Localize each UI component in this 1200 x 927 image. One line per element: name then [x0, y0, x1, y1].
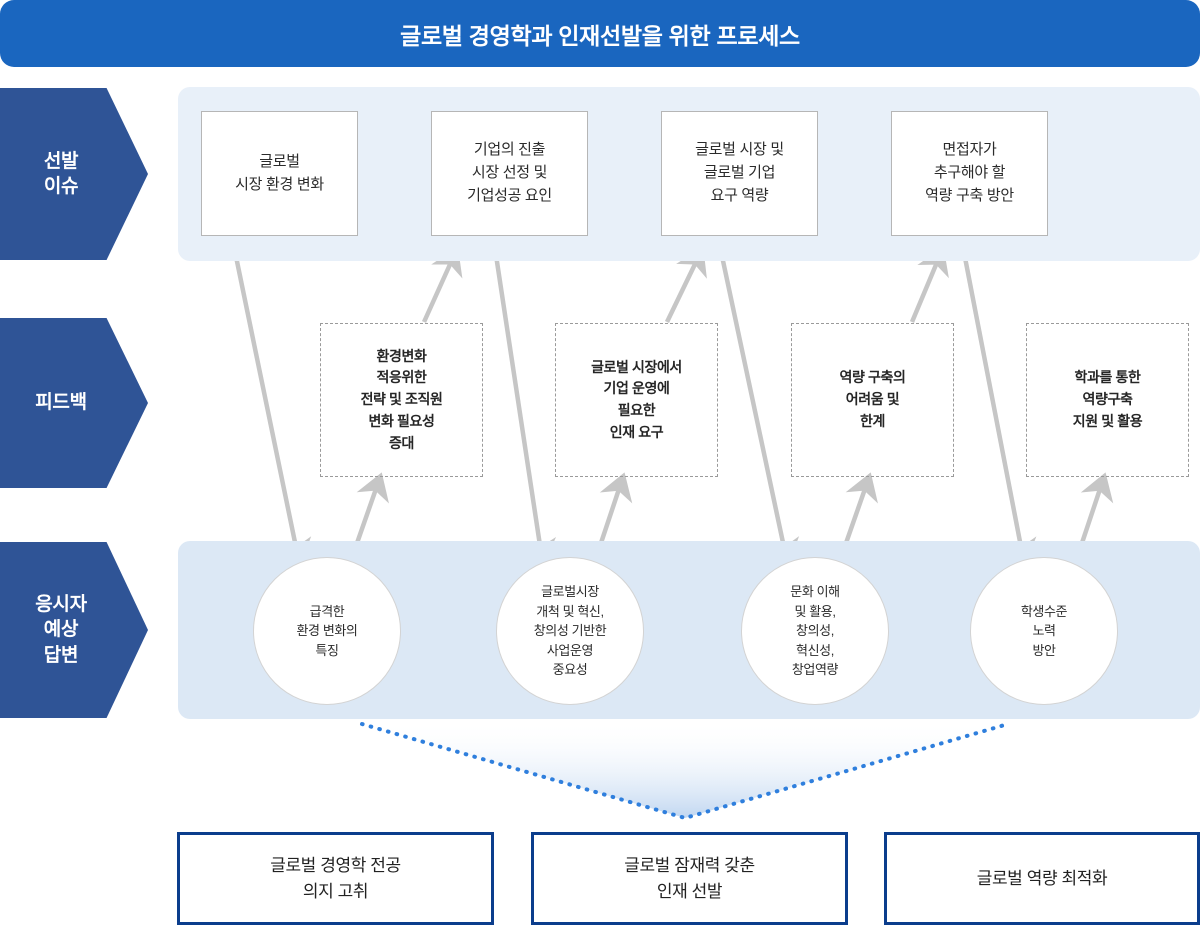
process-diagram: 글로벌 경영학과 인재선발을 위한 프로세스 선발이슈 피드백 응시자예상답변: [0, 0, 1200, 927]
outcome-box-1: 글로벌 경영학 전공의지 고취: [177, 832, 494, 925]
page-title: 글로벌 경영학과 인재선발을 위한 프로세스: [400, 17, 800, 51]
outcome-box-2: 글로벌 잠재력 갖춘인재 선발: [531, 832, 848, 925]
outcome-box-3: 글로벌 역량 최적화: [884, 832, 1200, 925]
issue-box-4: 면접자가추구해야 할역량 구축 방안: [891, 111, 1048, 236]
diagram-title-bar: 글로벌 경영학과 인재선발을 위한 프로세스: [0, 0, 1200, 67]
issue-box-3: 글로벌 시장 및글로벌 기업요구 역량: [661, 111, 818, 236]
issue-box-1: 글로벌시장 환경 변화: [201, 111, 358, 236]
stage-label-feedback: 피드백: [0, 318, 148, 488]
feedback-box-2: 글로벌 시장에서기업 운영에필요한인재 요구: [555, 323, 718, 477]
answer-circle-2: 글로벌시장개척 및 혁신,창의성 기반한사업운영중요성: [496, 557, 644, 705]
feedback-box-4: 학과를 통한역량구축지원 및 활용: [1026, 323, 1189, 477]
stage-label-selection-issue: 선발이슈: [0, 88, 148, 260]
answer-circle-1: 급격한환경 변화의특징: [253, 557, 401, 705]
answer-circle-3: 문화 이해및 활용,창의성,혁신성,창업역량: [741, 557, 889, 705]
stage-label-expected-answer: 응시자예상답변: [0, 542, 148, 718]
feedback-box-1: 환경변화적응위한전략 및 조직원변화 필요성증대: [320, 323, 483, 477]
feedback-box-3: 역량 구축의어려움 및한계: [791, 323, 954, 477]
issue-box-2: 기업의 진출시장 선정 및기업성공 요인: [431, 111, 588, 236]
answer-circle-4: 학생수준노력방안: [970, 557, 1118, 705]
